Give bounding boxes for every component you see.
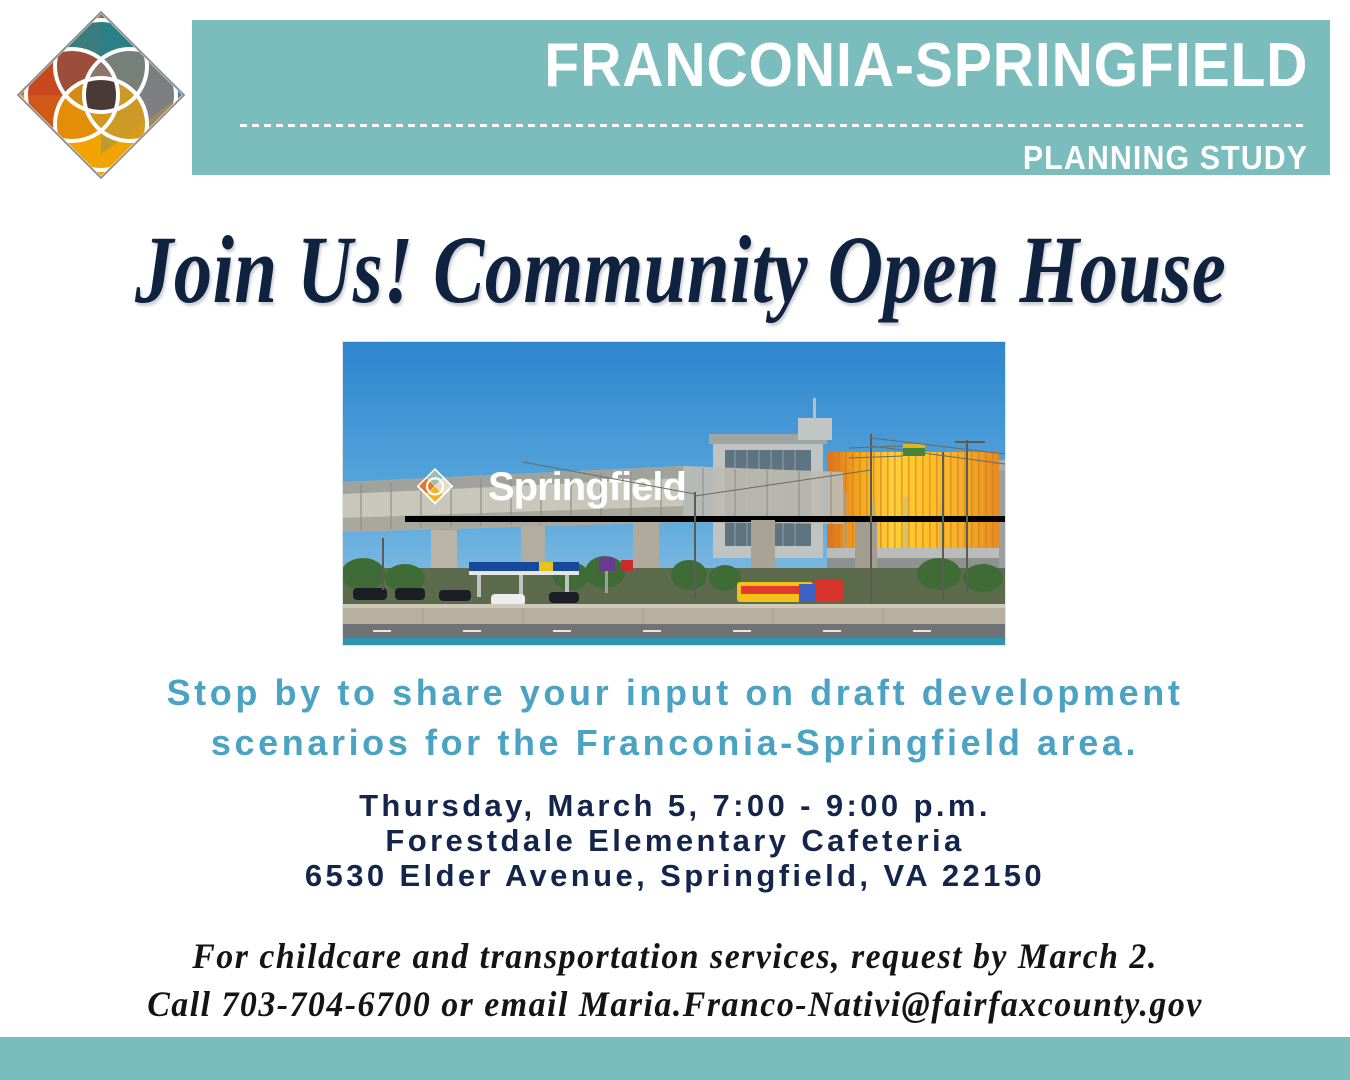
event-datetime: Thursday, March 5, 7:00 - 9:00 p.m. [60,788,1290,823]
event-venue: Forestdale Elementary Cafeteria [60,823,1290,858]
springfield-station-photo: Springfield [343,342,1005,645]
header-banner: FRANCONIA-SPRINGFIELD PLANNING STUDY [192,20,1330,175]
footer-banner [0,1037,1350,1080]
header-title: FRANCONIA-SPRINGFIELD [544,30,1308,102]
header-dotted-divider [240,124,1308,127]
lead-in-line-1: Stop by to share your input on draft dev… [167,672,1184,713]
page-title: Join Us! Community Open House [135,214,1215,326]
header-subtitle: PLANNING STUDY [1023,138,1308,178]
lead-in-line-2: scenarios for the Franconia-Springfield … [60,718,1290,768]
lead-in-text: Stop by to share your input on draft dev… [60,668,1290,768]
accommodation-note: For childcare and transportation service… [88,932,1263,1028]
event-address: 6530 Elder Avenue, Springfield, VA 22150 [60,858,1290,893]
accommodation-note-line-1: For childcare and transportation service… [88,932,1263,980]
accommodation-note-line-2: Call 703-704-6700 or email Maria.Franco-… [88,980,1263,1028]
fairfax-county-logo-icon [12,6,190,184]
flyer-page: FRANCONIA-SPRINGFIELD PLANNING STUDY Joi… [0,0,1350,1080]
event-details: Thursday, March 5, 7:00 - 9:00 p.m. Fore… [60,788,1290,893]
